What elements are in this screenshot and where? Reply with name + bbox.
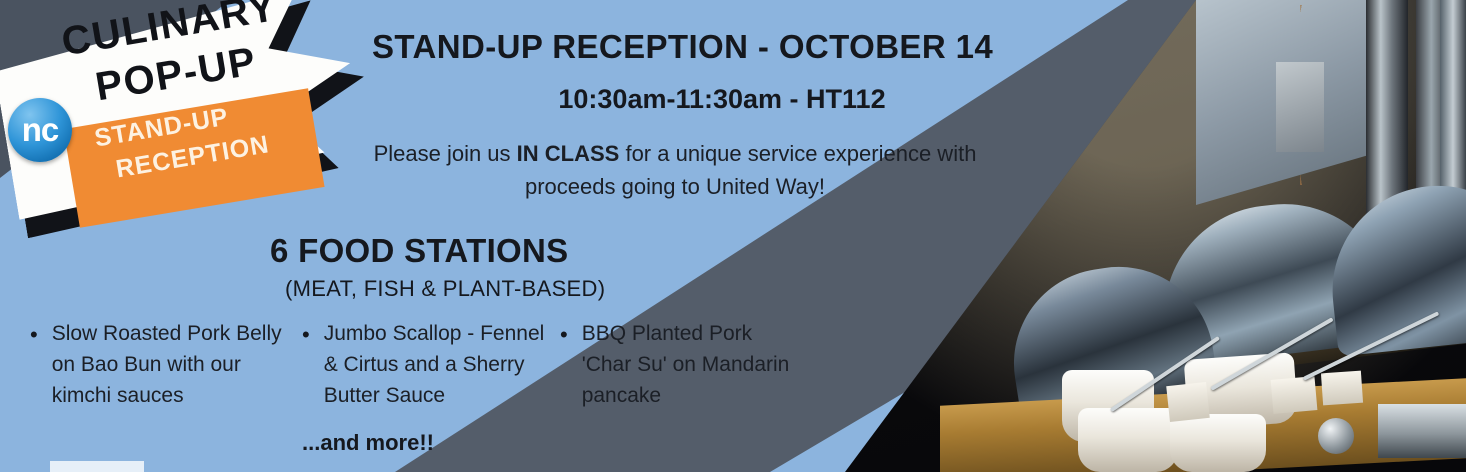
bullet-icon: • [302,324,310,346]
blurb-emphasis: IN CLASS [517,141,620,166]
list-item: • Jumbo Scallop - Fennel & Cirtus and a … [302,318,560,411]
photo-chrome-column [1366,0,1408,215]
menu-columns: • Slow Roasted Pork Belly on Bao Bun wit… [30,318,830,411]
photo-chafing-tray [1378,404,1466,458]
stations-subtitle: (MEAT, FISH & PLANT-BASED) [285,276,605,302]
photo-vase [1276,62,1324,152]
event-time-location: 10:30am-11:30am - HT112 [372,84,1072,115]
photo-chrome-column [1440,0,1466,200]
list-item: • BBQ Planted Pork 'Char Su' on Mandarin… [560,318,800,411]
photo-serving-bowl [1170,414,1266,472]
bullet-icon: • [560,324,568,346]
stations-title: 6 FOOD STATIONS [270,232,568,270]
culinary-popup-poster: CULINARY POP-UP STAND-UP RECEPTION nc ST… [0,0,1466,472]
blurb-before: Please join us [374,141,517,166]
bullet-icon: • [30,324,38,346]
event-headline: STAND-UP RECEPTION - OCTOBER 14 [372,28,1072,66]
and-more-label: ...and more!! [302,430,434,456]
nc-logo-text: nc [22,113,59,146]
menu-item-label: Jumbo Scallop - Fennel & Cirtus and a Sh… [324,318,560,411]
bottom-white-chip [50,461,144,472]
event-blurb: Please join us IN CLASS for a unique ser… [370,137,980,203]
photo-menu-card [1166,382,1210,422]
menu-item-label: BBQ Planted Pork 'Char Su' on Mandarin p… [582,318,800,411]
photo-lid-knob [1318,418,1354,454]
photo-menu-card [1271,376,1318,414]
menu-item-label: Slow Roasted Pork Belly on Bao Bun with … [52,318,302,411]
list-item: • Slow Roasted Pork Belly on Bao Bun wit… [30,318,302,411]
photo-chafing-dome [1322,175,1466,356]
photo-serving-bowl [1078,408,1178,472]
photo-menu-card [1321,371,1363,406]
nc-logo-icon: nc [8,98,72,162]
